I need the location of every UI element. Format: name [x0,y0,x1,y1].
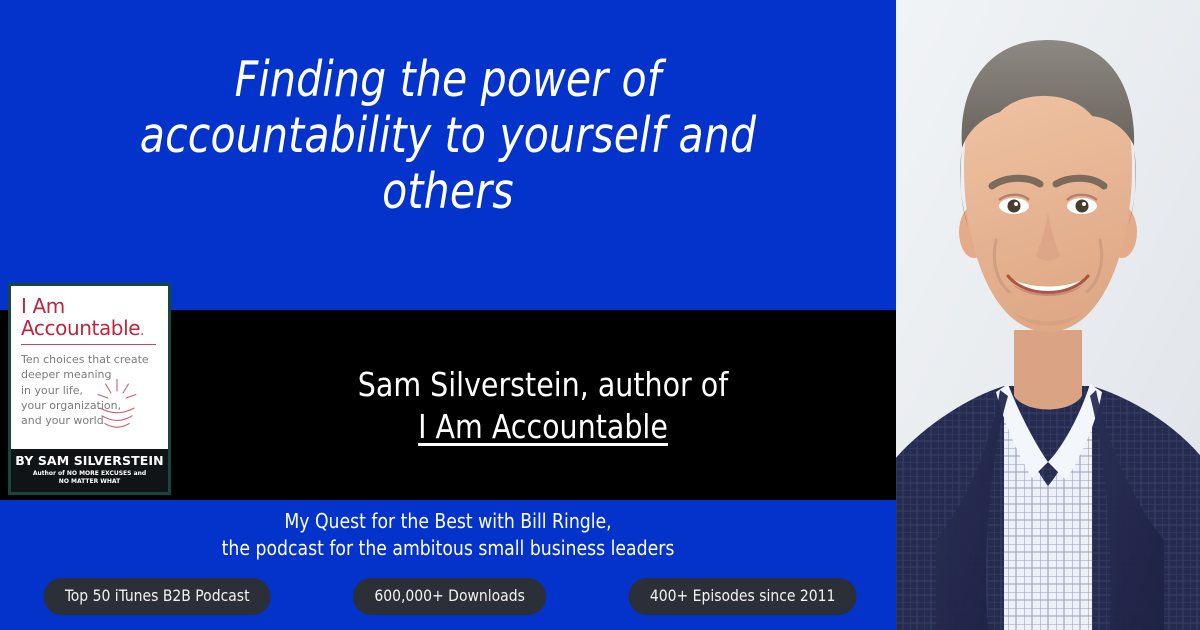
status-badge: Top 50 iTunes B2B Podcast [44,578,271,615]
book-title-period: . [140,324,144,339]
guest-credit-block: Sam Silverstein, author of I Am Accounta… [190,364,896,448]
page-title: Finding the power of accountability to y… [59,52,836,220]
book-cover-image: I Am Accountable. Ten choices that creat… [8,283,171,495]
status-badge: 600,000+ Downloads [353,578,546,615]
stats-badge-row: Top 50 iTunes B2B Podcast 600,000+ Downl… [40,578,860,615]
book-author-other-works: Author of NO MORE EXCUSES and NO MATTER … [15,470,164,486]
portrait-illustration [896,0,1200,630]
status-badge: 400+ Episodes since 2011 [628,578,856,615]
book-cover-title: I Am Accountable. [21,295,158,339]
book-cover-top: I Am Accountable. Ten choices that creat… [11,286,168,449]
book-cover-footer: BY SAM SILVERSTEIN Author of NO MORE EXC… [11,449,168,492]
guest-portrait-photo [896,0,1200,630]
podcast-tagline: My Quest for the Best with Bill Ringle, … [18,508,878,562]
podcast-episode-graphic: Finding the power of accountability to y… [0,0,1200,630]
book-title-line1: I Am [21,294,65,318]
book-author-name: BY SAM SILVERSTEIN [15,454,164,468]
book-cover-subtitle: Ten choices that create deeper meaning i… [21,352,158,428]
episode-title-block: Finding the power of accountability to y… [0,52,896,220]
book-title-line2: Accountable [21,316,140,340]
book-title-rule [21,344,156,345]
guest-book-title: I Am Accountable [204,406,882,448]
guest-name: Sam Silverstein, author of [204,364,882,406]
